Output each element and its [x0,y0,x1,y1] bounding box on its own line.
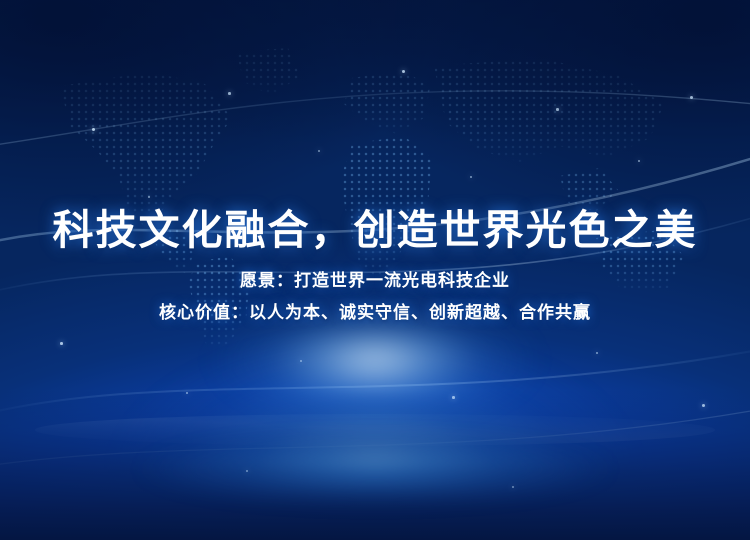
page-title: 科技文化融合，创造世界光色之美 [0,196,750,256]
core-values-text: 核心价值：以人为本、诚实守信、创新超越、合作共赢 [0,298,750,323]
hero-banner: 科技文化融合，创造世界光色之美 愿景：打造世界一流光电科技企业 核心价值：以人为… [0,0,750,540]
vision-text: 愿景：打造世界一流光电科技企业 [0,266,750,291]
